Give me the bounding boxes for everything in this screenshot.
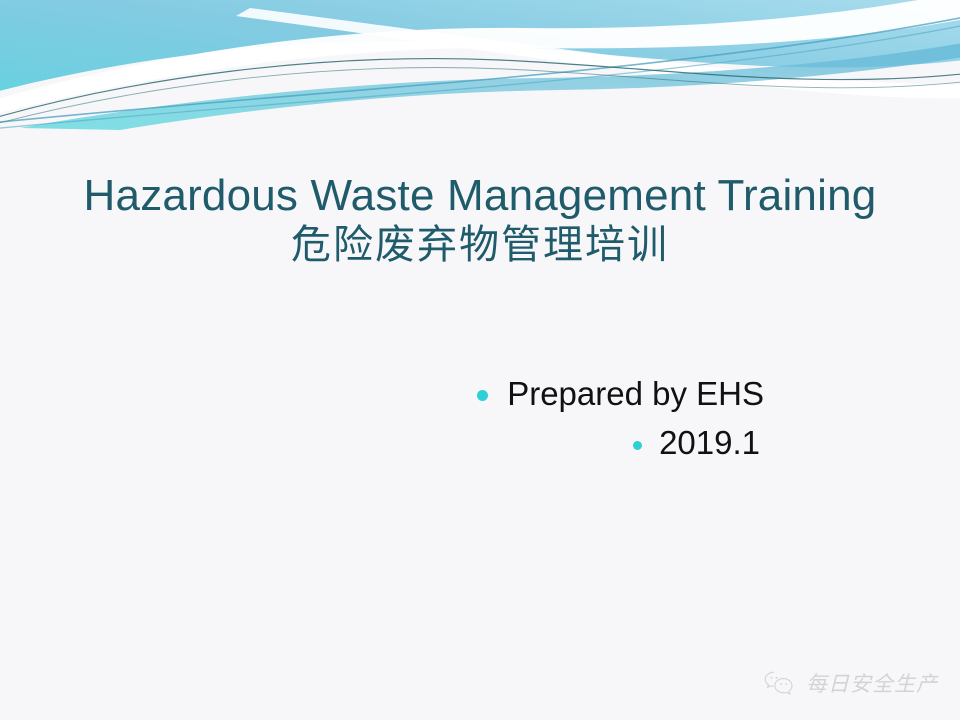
list-item-label: Prepared by EHS [507, 373, 764, 414]
list-item: 2019.1 [0, 422, 960, 463]
bullet-dot-icon [633, 441, 642, 450]
bullet-dot-icon [477, 390, 488, 401]
list-item-label: 2019.1 [659, 422, 760, 463]
wave-banner-decoration [0, 0, 960, 130]
presentation-slide: Hazardous Waste Management Training 危险废弃… [0, 0, 960, 720]
slide-title: Hazardous Waste Management Training 危险废弃… [0, 172, 960, 270]
watermark: 每日安全生产 [763, 668, 938, 698]
title-line-english: Hazardous Waste Management Training [0, 172, 960, 220]
slide-body-list: Prepared by EHS 2019.1 [0, 373, 960, 464]
wechat-icon [763, 670, 797, 696]
list-item: Prepared by EHS [0, 373, 960, 414]
title-line-chinese: 危险废弃物管理培训 [0, 222, 960, 269]
watermark-label: 每日安全生产 [806, 668, 938, 698]
